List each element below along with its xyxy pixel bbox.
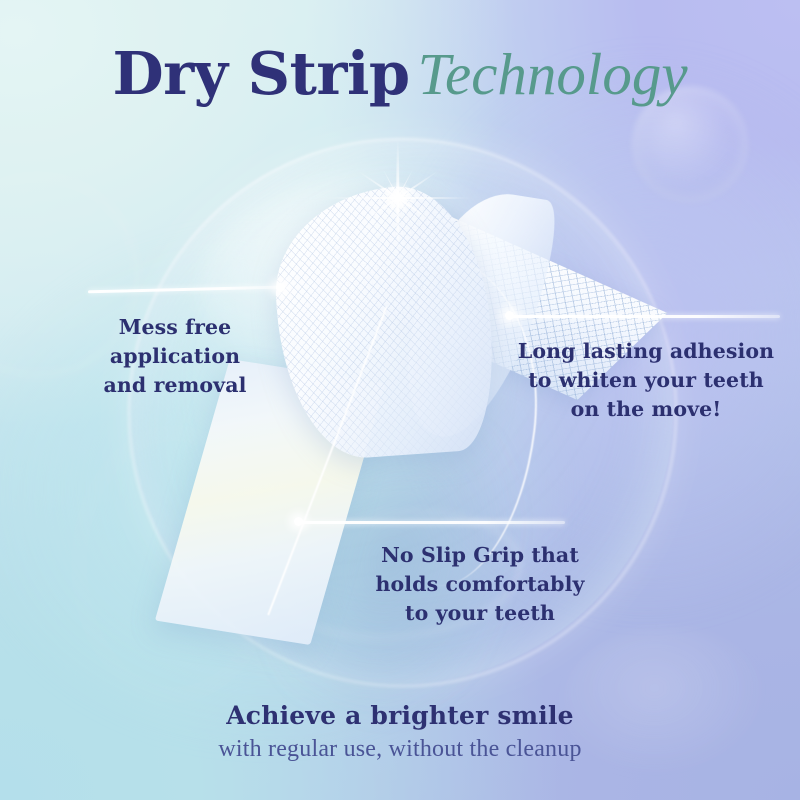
callout-line: holds comfortably [340,570,620,599]
callout-line: to your teeth [340,599,620,628]
page-title: Dry StripTechnology [0,44,800,104]
title-italic-text: Technology [418,41,688,107]
callout-line: No Slip Grip that [340,541,620,570]
leader-line-long-lasting [512,315,780,318]
callout-line: and removal [60,371,290,400]
title-bold-text: Dry Strip [112,39,409,108]
dry-strip-technology-graphic: Dry StripTechnology Mess free appl [0,0,800,800]
callout-line: application [60,342,290,371]
leader-dot-mess-free [276,283,285,292]
callout-line: on the move! [500,395,792,424]
callout-line: Mess free [60,313,290,342]
callout-line: to whiten your teeth [500,366,792,395]
leader-dot-no-slip [294,517,303,526]
callout-line: Long lasting adhesion [500,337,792,366]
footer-tagline: Achieve a brighter smile with regular us… [0,700,800,765]
callout-mess-free: Mess free application and removal [60,313,290,400]
leader-dot-long-lasting [505,311,514,320]
callout-no-slip-grip: No Slip Grip that holds comfortably to y… [340,541,620,628]
callout-long-lasting-adhesion: Long lasting adhesion to whiten your tee… [500,337,792,424]
footer-subline: with regular use, without the cleanup [0,734,800,765]
footer-headline: Achieve a brighter smile [0,700,800,731]
leader-line-no-slip [300,521,565,524]
